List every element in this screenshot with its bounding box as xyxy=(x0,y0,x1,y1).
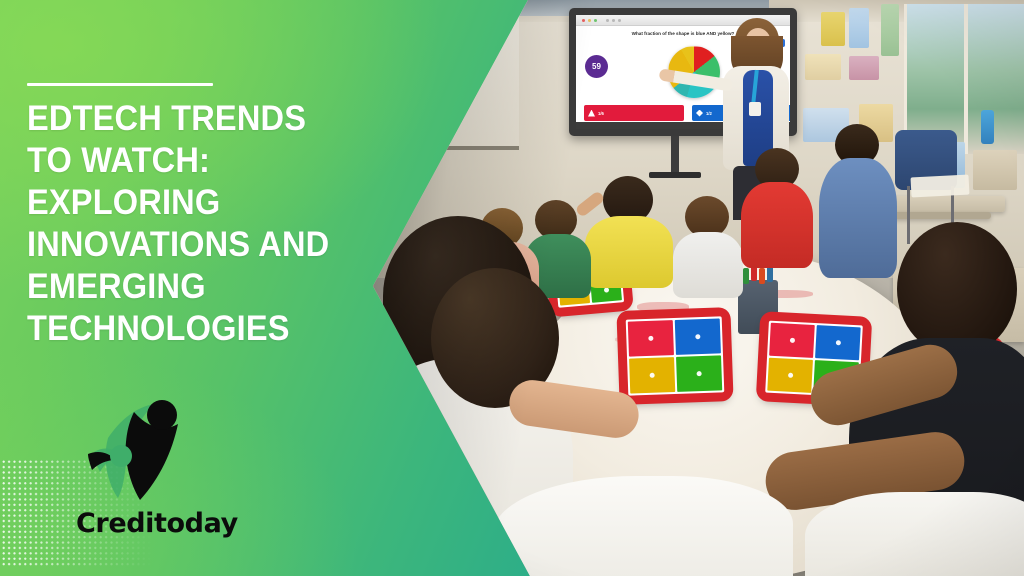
quiz-answer-label: 1/6 xyxy=(598,111,604,116)
logo-wordmark: Creditoday xyxy=(76,508,262,539)
tablet-screen[interactable] xyxy=(626,316,725,395)
student-foreground-bottom-right xyxy=(765,432,1024,576)
water-bottle xyxy=(981,110,994,144)
student-figure xyxy=(741,148,813,264)
triangle-icon xyxy=(588,110,595,117)
wall-poster xyxy=(849,8,869,48)
student-figure xyxy=(673,196,743,292)
answer-quadrant-yellow[interactable] xyxy=(629,357,675,394)
quiz-timer: 59 xyxy=(585,55,608,78)
wall-poster xyxy=(849,56,879,80)
logo-head xyxy=(147,400,177,430)
teacher-id-badge xyxy=(749,102,761,116)
answer-quadrant-yellow[interactable] xyxy=(767,358,813,393)
logo-inner-dot xyxy=(110,445,132,467)
title-rule xyxy=(27,83,213,86)
answer-quadrant-red[interactable] xyxy=(628,320,674,357)
quiz-answer-red[interactable]: 1/6 xyxy=(584,105,684,121)
page-title: EdTech Trends to Watch: Exploring Innova… xyxy=(27,98,336,350)
wall-poster xyxy=(805,54,841,80)
brand-logo[interactable]: Creditoday xyxy=(72,398,262,558)
window-mullion xyxy=(964,4,968,154)
diamond-icon xyxy=(696,110,703,117)
answer-quadrant-blue[interactable] xyxy=(675,318,721,355)
answer-quadrant-red[interactable] xyxy=(769,323,815,358)
logo-mark xyxy=(78,398,203,506)
banner-root: What fraction of the shape is blue AND y… xyxy=(0,0,1024,576)
student-figure xyxy=(585,176,673,284)
smartboard-stand xyxy=(671,136,679,176)
wall-poster xyxy=(973,150,1017,190)
answer-quadrant-green[interactable] xyxy=(676,355,722,392)
student-foreground-bottom-center xyxy=(493,456,793,576)
wall-poster xyxy=(881,4,899,56)
tablet-center[interactable] xyxy=(621,311,730,401)
paper-stack xyxy=(911,174,970,197)
wall-poster xyxy=(821,12,845,46)
